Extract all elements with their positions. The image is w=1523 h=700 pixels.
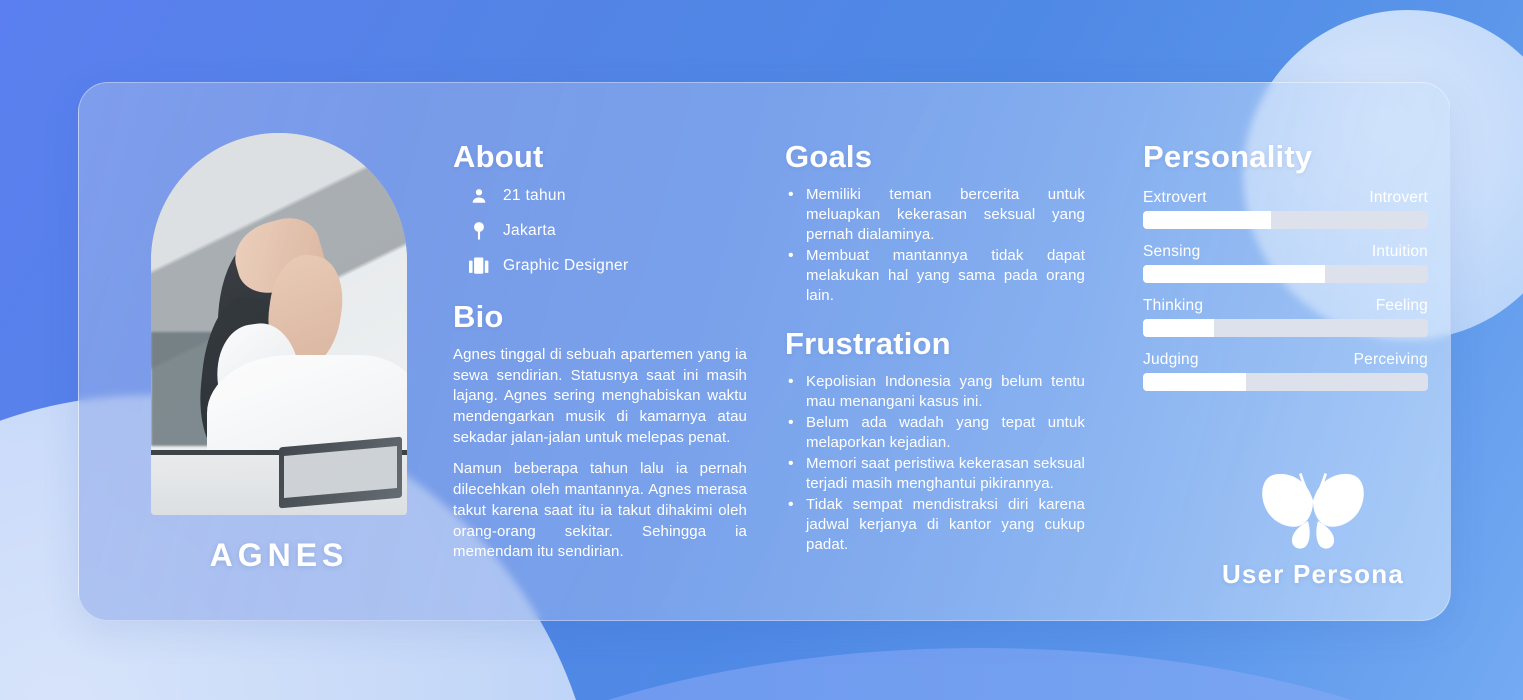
trait-left-label: Judging	[1143, 351, 1199, 369]
trait-right-label: Introvert	[1369, 189, 1428, 207]
goals-heading: Goals	[785, 139, 1085, 175]
bio-heading: Bio	[453, 299, 747, 335]
list-item: Membuat mantannya tidak dapat melakukan …	[785, 246, 1085, 306]
persona-card: AGNES About 21 tahun Jakarta Graph	[78, 82, 1451, 621]
person-icon	[469, 185, 489, 207]
trait-slider-fill	[1143, 265, 1325, 283]
about-column: About 21 tahun Jakarta Graphic Designer	[429, 117, 759, 600]
brand-block: User Persona	[1222, 471, 1428, 590]
about-item-occupation-label: Graphic Designer	[503, 257, 628, 275]
trait-left-label: Thinking	[1143, 297, 1203, 315]
trait-slider-fill	[1143, 319, 1214, 337]
trait-thinking-feeling: Thinking Feeling	[1143, 297, 1428, 337]
goals-list: Memiliki teman bercerita untuk meluapkan…	[785, 185, 1085, 307]
list-item: Memori saat peristiwa kekerasan seksual …	[785, 454, 1085, 494]
list-item: Belum ada wadah yang tepat untuk melapor…	[785, 413, 1085, 453]
about-heading: About	[453, 139, 747, 175]
frustration-list: Kepolisian Indonesia yang belum tentu ma…	[785, 372, 1085, 556]
about-item-location: Jakarta	[453, 220, 747, 242]
photo-column: AGNES	[129, 117, 429, 600]
about-item-age-label: 21 tahun	[503, 187, 566, 205]
trait-slider-fill	[1143, 211, 1271, 229]
bio-paragraph: Agnes tinggal di sebuah apartemen yang i…	[453, 345, 747, 448]
persona-name: AGNES	[210, 537, 349, 574]
list-item: Kepolisian Indonesia yang belum tentu ma…	[785, 372, 1085, 412]
persona-photo	[151, 133, 407, 515]
trait-right-label: Intuition	[1372, 243, 1428, 261]
bio-paragraph: Namun beberapa tahun lalu ia pernah dile…	[453, 459, 747, 562]
trait-slider[interactable]	[1143, 373, 1428, 391]
trait-slider[interactable]	[1143, 211, 1428, 229]
trait-extrovert-introvert: Extrovert Introvert	[1143, 189, 1428, 229]
trait-right-label: Perceiving	[1354, 351, 1428, 369]
butterfly-icon	[1259, 471, 1367, 555]
personality-column: Personality Extrovert Introvert Sensing …	[1099, 117, 1444, 600]
trait-sensing-intuition: Sensing Intuition	[1143, 243, 1428, 283]
list-item: Memiliki teman bercerita untuk meluapkan…	[785, 185, 1085, 245]
trait-slider-fill	[1143, 373, 1246, 391]
briefcase-icon	[469, 255, 489, 277]
list-item: Tidak sempat mendistraksi diri karena ja…	[785, 495, 1085, 555]
trait-judging-perceiving: Judging Perceiving	[1143, 351, 1428, 391]
trait-slider[interactable]	[1143, 265, 1428, 283]
trait-left-label: Extrovert	[1143, 189, 1207, 207]
location-icon	[469, 220, 489, 242]
about-item-age: 21 tahun	[453, 185, 747, 207]
personality-traits: Extrovert Introvert Sensing Intuition	[1143, 189, 1428, 405]
about-list: 21 tahun Jakarta Graphic Designer	[453, 185, 747, 277]
trait-left-label: Sensing	[1143, 243, 1200, 261]
brand-label: User Persona	[1222, 559, 1404, 590]
about-item-occupation: Graphic Designer	[453, 255, 747, 277]
personality-heading: Personality	[1143, 139, 1428, 175]
frustration-heading: Frustration	[785, 326, 1085, 362]
trait-slider[interactable]	[1143, 319, 1428, 337]
trait-right-label: Feeling	[1376, 297, 1428, 315]
about-item-location-label: Jakarta	[503, 222, 556, 240]
goals-column: Goals Memiliki teman bercerita untuk mel…	[759, 117, 1099, 600]
